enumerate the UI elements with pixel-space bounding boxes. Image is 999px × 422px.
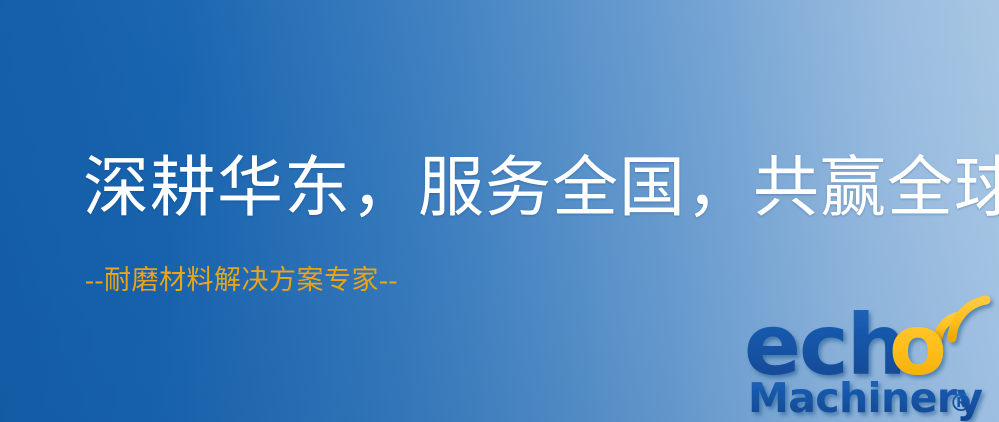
banner-headline: 深耕华东，服务全国，共赢全球 — [83, 152, 999, 226]
banner-subtitle: --耐磨材料解决方案专家-- — [85, 264, 398, 296]
logo-trademark-symbol: ® — [949, 389, 973, 417]
echo-machinery-logo-graphic: ech o Machinery ® — [742, 292, 994, 418]
logo-wordmark-machinery: Machinery — [748, 374, 983, 422]
hero-banner: 深耕华东，服务全国，共赢全球 --耐磨材料解决方案专家-- — [0, 0, 999, 422]
company-logo[interactable]: ech o Machinery ® — [742, 292, 994, 418]
